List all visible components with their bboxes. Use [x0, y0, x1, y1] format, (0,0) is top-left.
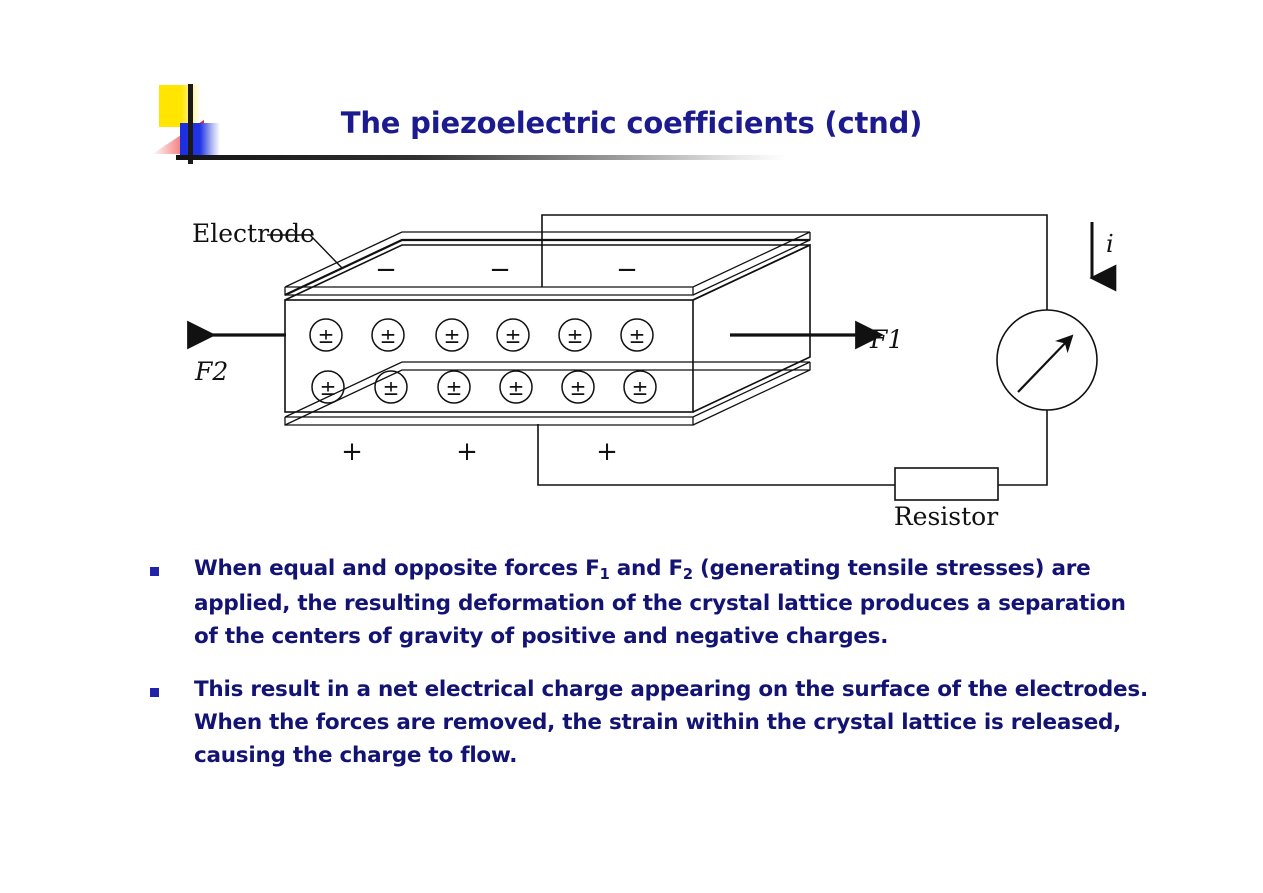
svg-text:±: ± — [570, 376, 587, 400]
svg-text:±: ± — [505, 324, 522, 348]
svg-text:−: − — [375, 255, 397, 285]
svg-text:±: ± — [446, 376, 463, 400]
svg-text:±: ± — [380, 324, 397, 348]
svg-text:±: ± — [567, 324, 584, 348]
svg-text:±: ± — [508, 376, 525, 400]
svg-text:+: + — [341, 437, 363, 467]
svg-text:±: ± — [632, 376, 649, 400]
svg-text:−: − — [489, 255, 511, 285]
title-underline-rule — [176, 155, 786, 160]
svg-text:+: + — [596, 437, 618, 467]
svg-text:−: − — [616, 255, 638, 285]
svg-text:±: ± — [444, 324, 461, 348]
svg-text:+: + — [456, 437, 478, 467]
slide-body: When equal and opposite forces F1 and F2… — [150, 552, 1150, 792]
bullet-square-icon — [150, 567, 159, 576]
svg-text:±: ± — [383, 376, 400, 400]
bottom-surface-positive-charges: + + + — [341, 437, 618, 467]
dipole-lattice: ± ± ± ± ± ± ± ± — [310, 319, 656, 403]
crystal-top-right-faces — [285, 245, 810, 412]
force-f2-label: F2 — [194, 357, 228, 386]
bullet-text-2: This result in a net electrical charge a… — [194, 673, 1150, 772]
svg-text:±: ± — [318, 324, 335, 348]
list-item: When equal and opposite forces F1 and F2… — [150, 552, 1150, 653]
force-f1-label: F1 — [869, 325, 903, 354]
svg-text:±: ± — [320, 376, 337, 400]
list-item: This result in a net electrical charge a… — [150, 673, 1150, 772]
svg-text:±: ± — [629, 324, 646, 348]
electrode-label: Electrode — [192, 219, 315, 248]
slide-header: The piezoelectric coefficients (ctnd) — [0, 0, 1263, 175]
bullet-square-icon — [150, 688, 159, 697]
resistor-body — [895, 468, 998, 500]
meter-needle — [1018, 337, 1071, 392]
piezoelectric-crystal-circuit-diagram: ± ± ± ± ± ± ± ± — [170, 200, 1130, 540]
resistor-label: Resistor — [894, 502, 998, 531]
current-label: i — [1106, 230, 1114, 258]
top-surface-negative-charges: − − − — [375, 255, 638, 285]
bullet-text-1: When equal and opposite forces F1 and F2… — [194, 552, 1150, 653]
meter-dial — [997, 310, 1097, 410]
page-title: The piezoelectric coefficients (ctnd) — [0, 106, 1263, 140]
